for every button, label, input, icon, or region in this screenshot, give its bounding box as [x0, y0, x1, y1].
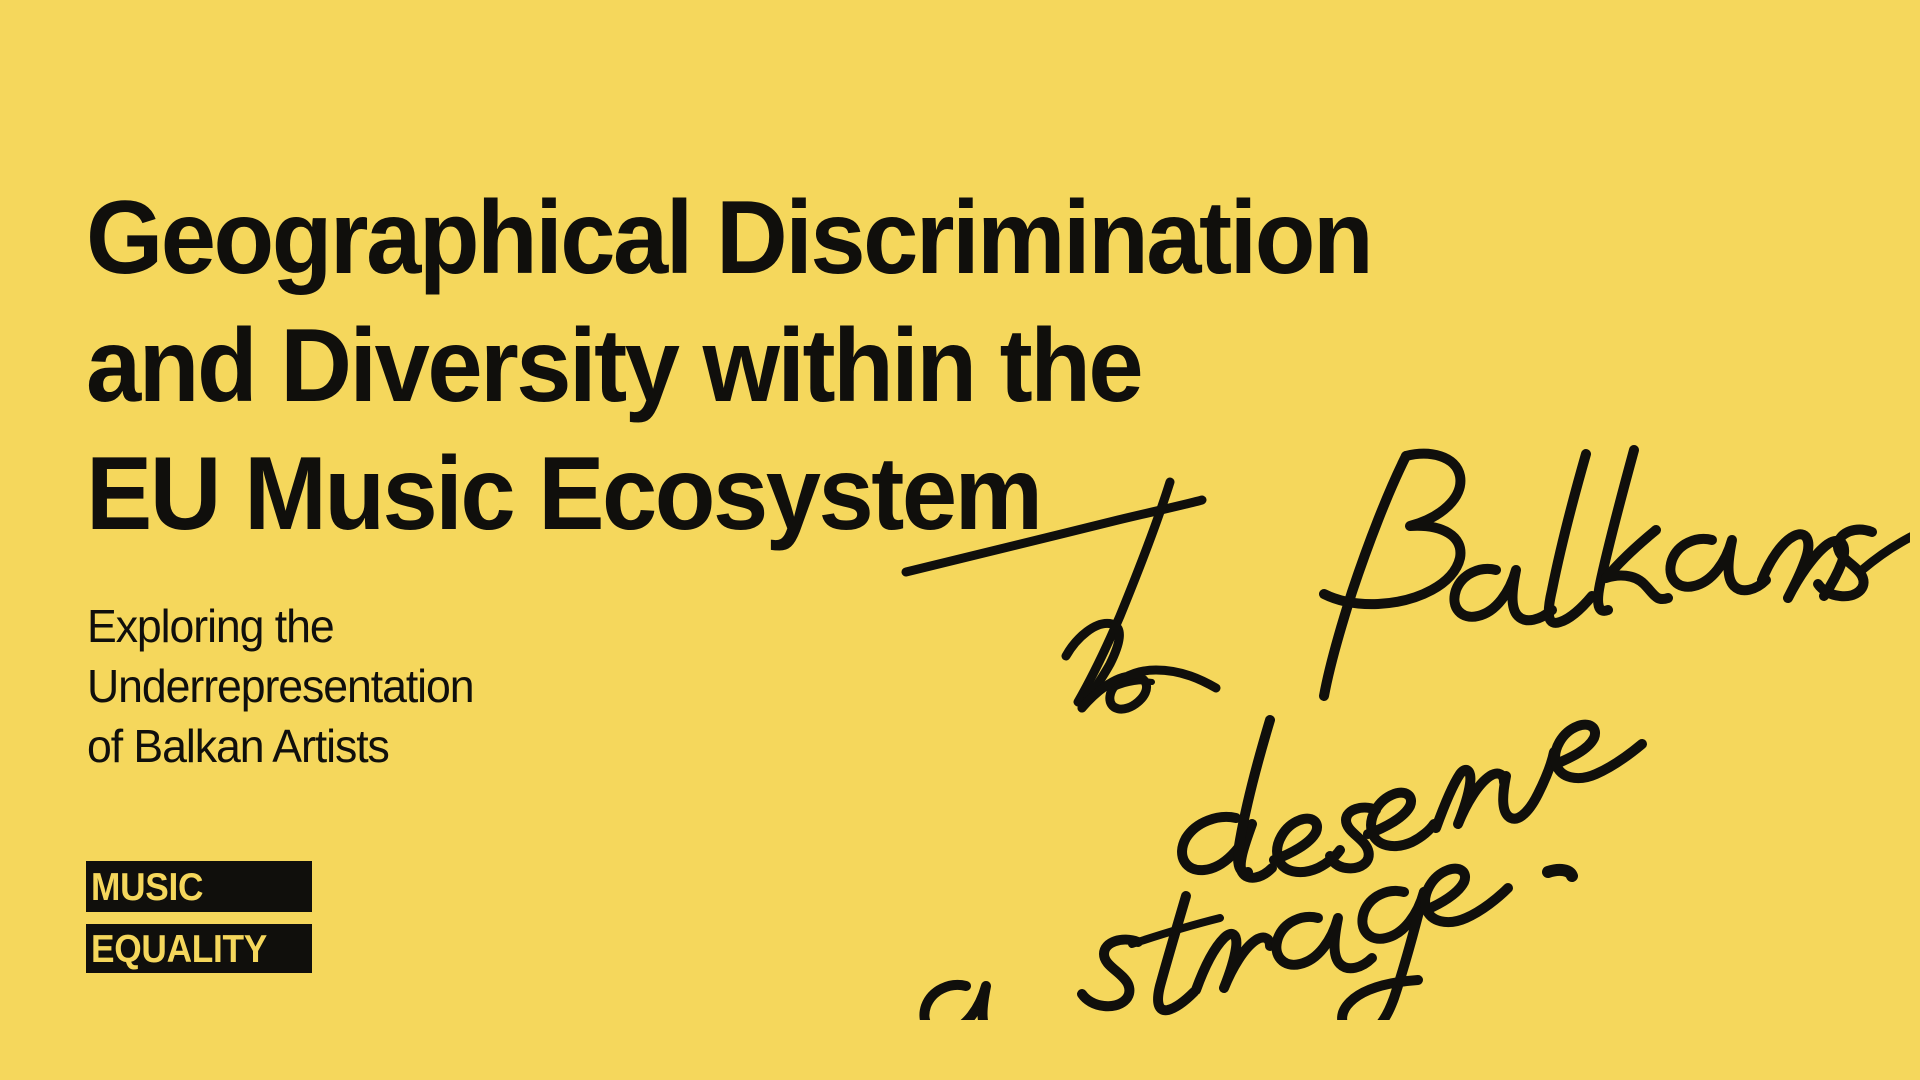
music-equality-logo: MUSIC EQUALITY [86, 861, 312, 973]
subtitle-line-3: of Balkan Artists [87, 716, 708, 776]
title-slide: Geographical Discrimination and Diversit… [0, 0, 1920, 1080]
page-title: Geographical Discrimination and Diversit… [86, 174, 1566, 558]
logo-bar-music: MUSIC [86, 861, 312, 912]
logo-text-music: MUSIC [91, 859, 203, 914]
logo-bar-equality: EQUALITY [86, 924, 312, 973]
subtitle-line-1: Exploring the [87, 596, 708, 656]
headline-line-2: and Diversity within the [86, 302, 1499, 430]
logo-text-equality: EQUALITY [91, 922, 267, 975]
headline-line-3: EU Music Ecosystem [86, 430, 1499, 558]
subtitle-line-2: Underrepresentation [87, 656, 708, 716]
page-subtitle: Exploring the Underrepresentation of Bal… [87, 596, 727, 776]
headline-line-1: Geographical Discrimination [86, 174, 1499, 302]
